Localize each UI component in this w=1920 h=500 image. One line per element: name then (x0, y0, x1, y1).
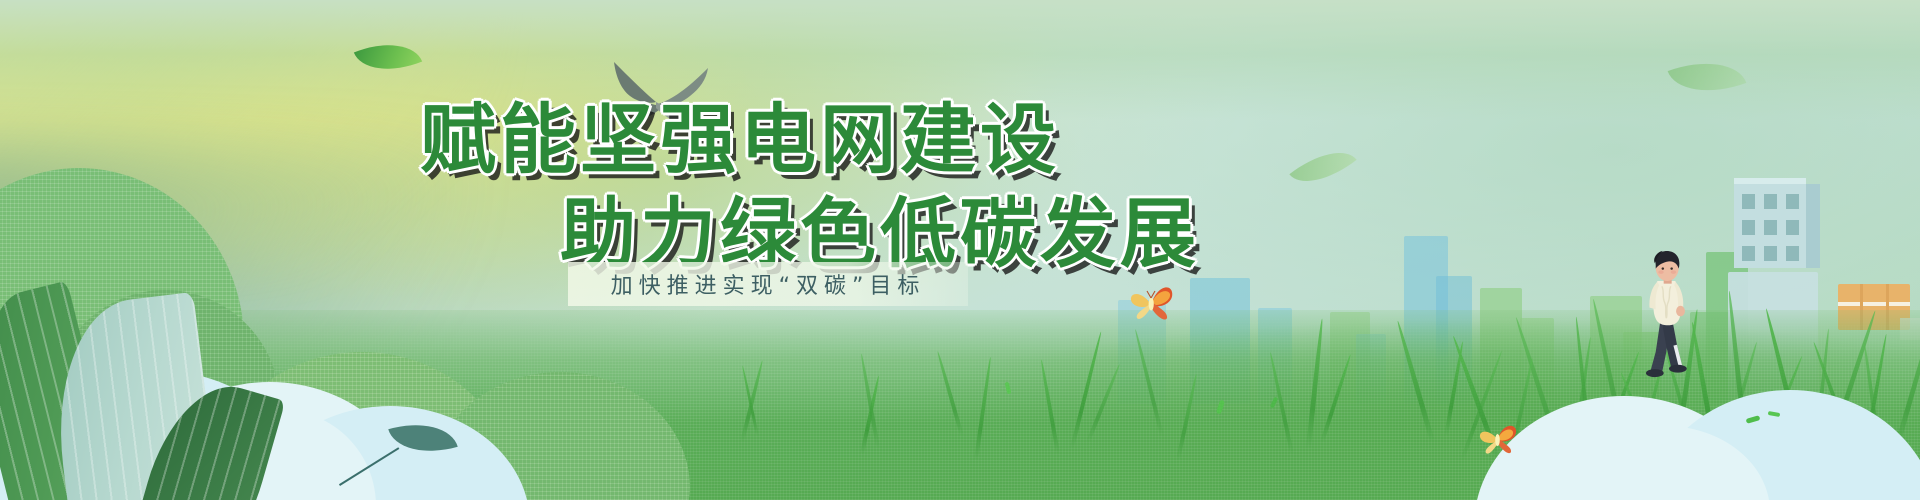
stemmed-leaf (340, 406, 470, 486)
walking-person (1638, 242, 1700, 382)
butterfly-upper (1128, 282, 1174, 322)
ground-horizon-fade (0, 0, 1920, 120)
swallow-silhouette (596, 58, 716, 136)
butterfly-lower (1478, 420, 1518, 456)
subtitle-text: 加快推进实现“双碳”目标 (568, 262, 968, 306)
building-with-windows (1734, 178, 1820, 268)
green-energy-banner: 赋能坚强电网建设 助力绿色低碳发展 加快推进实现“双碳”目标 (0, 0, 1920, 500)
